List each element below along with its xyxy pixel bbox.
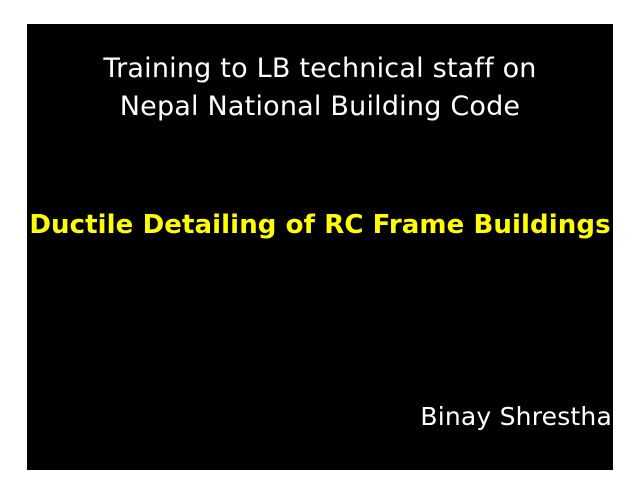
slide-subtitle-container: Ductile Detailing of RC Frame Buildings bbox=[27, 210, 613, 240]
slide-title: Training to LB technical staff on Nepal … bbox=[27, 50, 613, 126]
slide-title-line-2: Nepal National Building Code bbox=[27, 88, 613, 126]
slide-author: Binay Shrestha bbox=[420, 402, 612, 431]
slide-subtitle: Ductile Detailing of RC Frame Buildings bbox=[29, 210, 610, 240]
slide-author-container: Binay Shrestha bbox=[27, 402, 613, 431]
slide-title-line-1: Training to LB technical staff on bbox=[27, 50, 613, 88]
presentation-slide: Training to LB technical staff on Nepal … bbox=[27, 24, 613, 470]
